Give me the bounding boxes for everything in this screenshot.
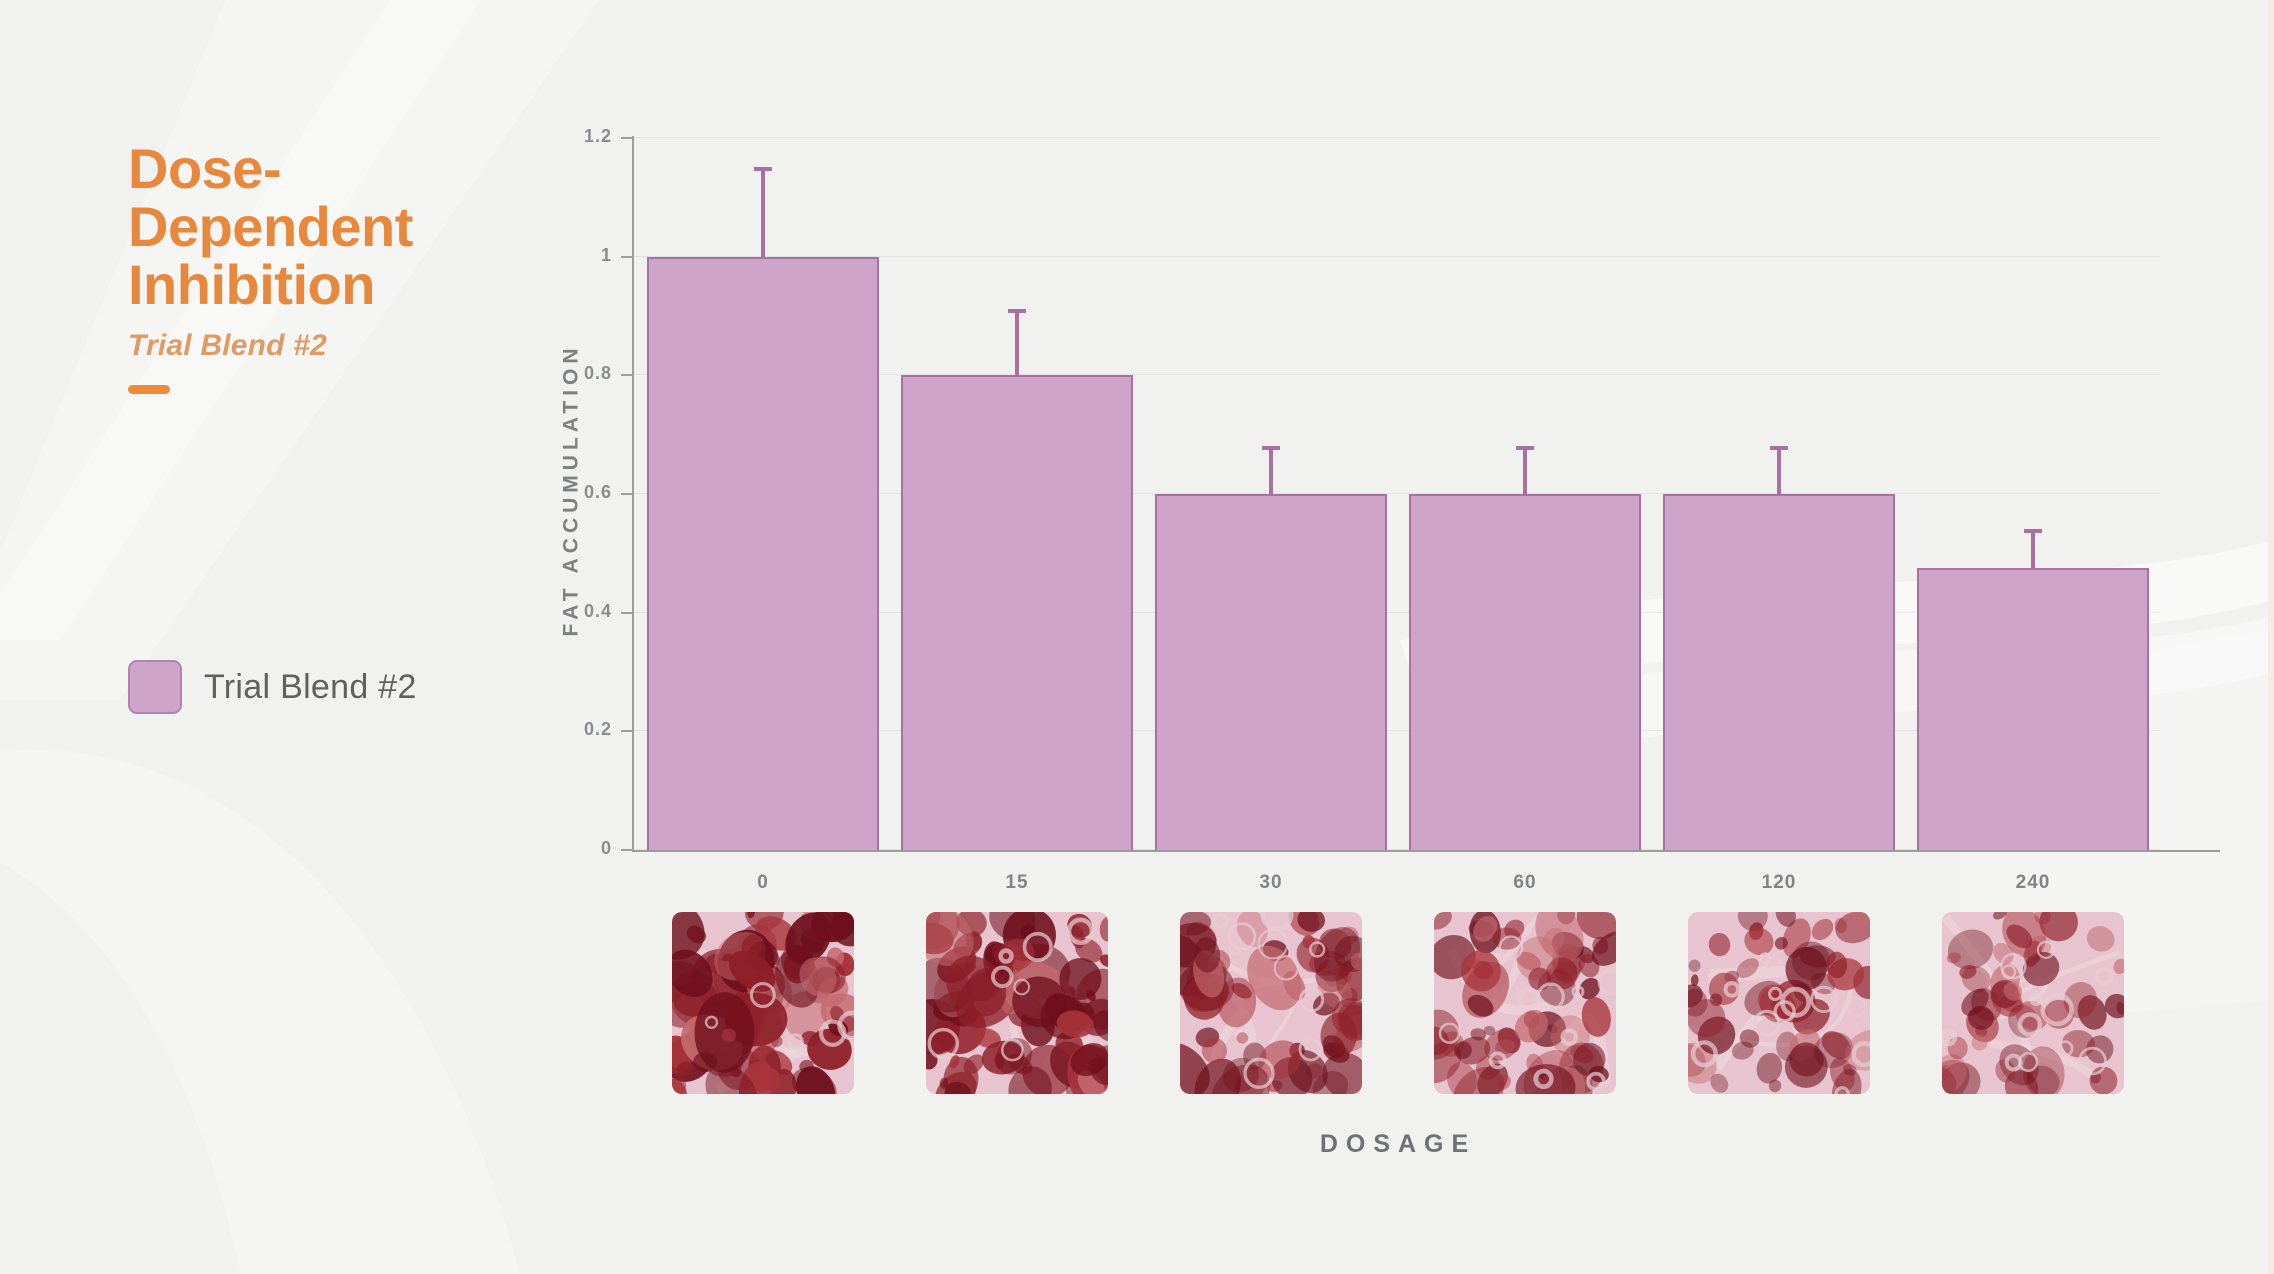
x-axis-line [632, 850, 2220, 852]
x-axis-title: DOSAGE [636, 1130, 2160, 1159]
y-axis-tick-mark [621, 256, 632, 258]
chart-legend: Trial Blend #2 [128, 660, 417, 714]
y-axis-tick-mark [621, 374, 632, 376]
y-axis-tick-mark [621, 730, 632, 732]
legend-swatch-trial-blend-2 [128, 660, 182, 714]
y-axis-tick-label: 0.2 [584, 719, 612, 740]
error-bar [1269, 446, 1273, 496]
error-bar [1777, 446, 1781, 496]
bar-chart: FAT ACCUMULATION 00.20.40.60.811.2 01530… [560, 130, 2160, 1160]
y-axis-tick-label: 0.8 [584, 363, 612, 384]
y-axis-line [632, 136, 634, 852]
y-axis-tick-mark [621, 849, 632, 851]
micrograph-thumbnail[interactable] [926, 912, 1108, 1094]
y-axis-tick-label: 1.2 [584, 126, 612, 147]
page-subtitle: Trial Blend #2 [128, 329, 558, 363]
micrograph-thumbnail[interactable] [672, 912, 854, 1094]
title-block: Dose- Dependent Inhibition Trial Blend #… [128, 140, 558, 394]
y-axis-tick-label: 1 [601, 245, 612, 266]
error-bar [1015, 309, 1019, 377]
bar[interactable] [901, 375, 1132, 850]
y-axis-tick-mark [621, 612, 632, 614]
micrograph-cell [1398, 912, 1652, 1094]
micrograph-thumbnail[interactable] [1942, 912, 2124, 1094]
bar-slot [1652, 138, 1906, 850]
x-axis-tick-label: 240 [1906, 872, 2160, 894]
x-axis-tick-label: 30 [1144, 872, 1398, 894]
micrograph-thumbnail[interactable] [1180, 912, 1362, 1094]
micrograph-thumbnail[interactable] [1688, 912, 1870, 1094]
x-axis-tick-label: 60 [1398, 872, 1652, 894]
x-axis-tick-label: 15 [890, 872, 1144, 894]
micrograph-cell [636, 912, 890, 1094]
bar-slot [890, 138, 1144, 850]
bar-slot [1398, 138, 1652, 850]
y-axis-title-text: FAT ACCUMULATION [560, 343, 584, 636]
accent-dash [128, 385, 170, 394]
bar[interactable] [647, 257, 878, 850]
x-axis-tick-label: 120 [1652, 872, 1906, 894]
bar-slot [636, 138, 890, 850]
error-bar [2031, 529, 2035, 570]
bar-slot [1906, 138, 2160, 850]
y-axis-tick-mark [621, 493, 632, 495]
micrograph-thumbnail[interactable] [1434, 912, 1616, 1094]
y-axis-tick-mark [621, 137, 632, 139]
error-bar [761, 167, 765, 259]
bar[interactable] [1409, 494, 1640, 850]
legend-label-trial-blend-2: Trial Blend #2 [204, 668, 417, 707]
bar[interactable] [1917, 568, 2148, 850]
page-title: Dose- Dependent Inhibition [128, 140, 558, 315]
plot-area: 00.20.40.60.811.2 [634, 138, 2160, 850]
micrograph-cell [890, 912, 1144, 1094]
bar-slot [1144, 138, 1398, 850]
micrograph-strip [636, 912, 2160, 1094]
bar[interactable] [1155, 494, 1386, 850]
y-axis-tick-label: 0.4 [584, 601, 612, 622]
error-bar [1523, 446, 1527, 496]
slide-canvas: Dose- Dependent Inhibition Trial Blend #… [0, 0, 2274, 1274]
bar[interactable] [1663, 494, 1894, 850]
x-axis-tick-label: 0 [636, 872, 890, 894]
micrograph-cell [1144, 912, 1398, 1094]
y-axis-tick-label: 0.6 [584, 482, 612, 503]
bar-group [636, 138, 2160, 850]
micrograph-cell [1906, 912, 2160, 1094]
x-axis-tick-labels: 0153060120240 [636, 872, 2160, 894]
micrograph-cell [1652, 912, 1906, 1094]
y-axis-tick-label: 0 [601, 838, 612, 859]
